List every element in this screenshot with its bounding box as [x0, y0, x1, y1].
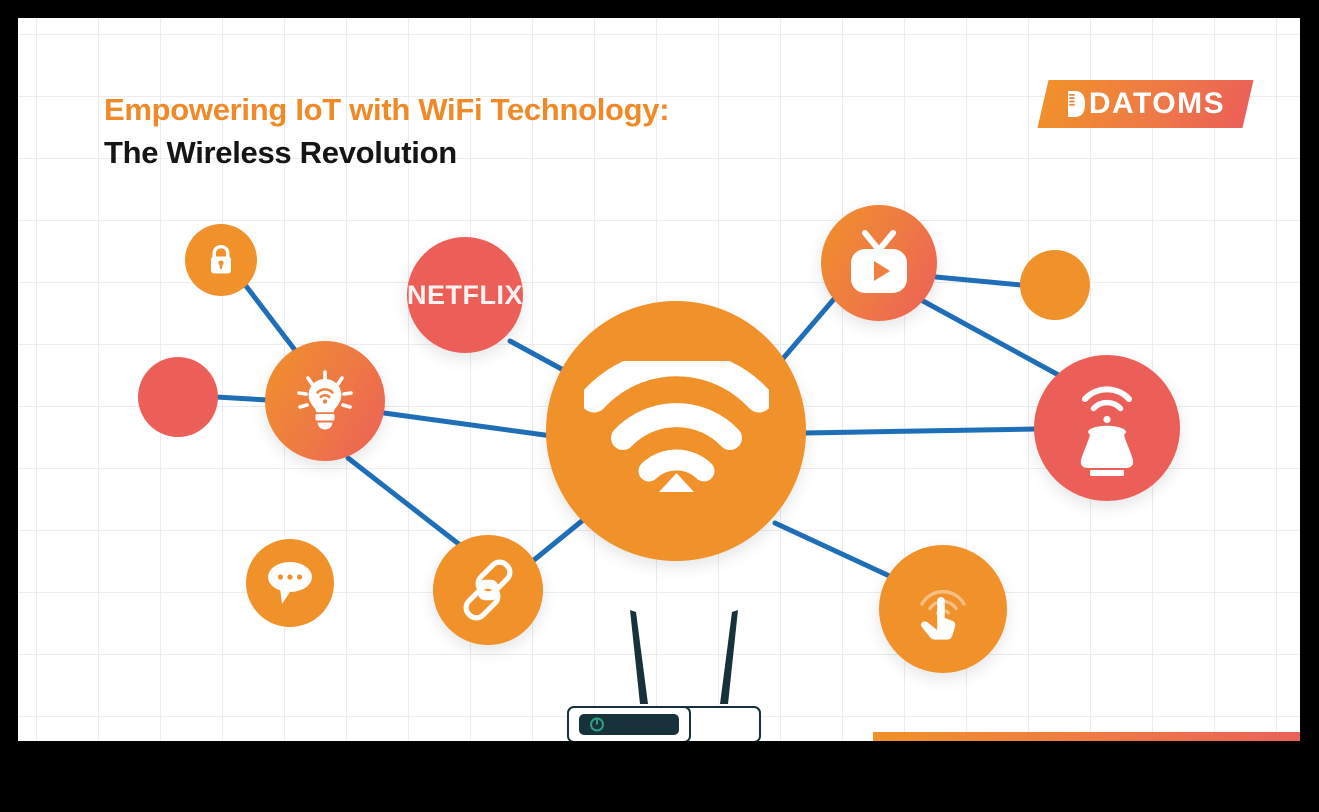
node-security-lock[interactable] — [185, 224, 257, 296]
edge-link-hub — [534, 516, 588, 560]
netflix-wordmark: NETFLIX — [407, 280, 523, 311]
edge-tv-plainorange — [936, 277, 1021, 285]
node-smart-tv[interactable] — [821, 205, 937, 321]
tv-play-icon — [845, 230, 913, 296]
iot-network-diagram: NETFLIX — [18, 18, 1300, 741]
bottom-accent-bar — [873, 732, 1300, 741]
edge-lock-bulb — [246, 286, 298, 354]
edge-plainred-bulb — [216, 397, 268, 400]
node-smart-speaker[interactable] — [1034, 355, 1180, 501]
slide-frame: Empowering IoT with WiFi Technology: The… — [0, 0, 1319, 812]
edge-hub-tv — [780, 299, 834, 362]
node-plain-orange-right[interactable] — [1020, 250, 1090, 320]
node-touch-control[interactable] — [879, 545, 1007, 673]
node-chat-bubble[interactable] — [246, 539, 334, 627]
slide-canvas: Empowering IoT with WiFi Technology: The… — [18, 18, 1300, 741]
chain-link-icon — [455, 557, 521, 623]
node-plain-red-left[interactable] — [138, 357, 218, 437]
edge-hub-speaker — [805, 429, 1036, 433]
smart-bulb-icon — [290, 366, 360, 436]
node-netflix[interactable]: NETFLIX — [407, 237, 523, 353]
router-antenna-right — [720, 610, 738, 704]
edge-bulb-hub — [384, 413, 552, 436]
edge-hub-touch — [775, 523, 898, 580]
edge-bulb-link — [348, 458, 460, 545]
router-antenna-left — [630, 610, 648, 704]
node-smart-bulb[interactable] — [265, 341, 385, 461]
router-display-panel — [579, 714, 679, 735]
lock-icon — [205, 242, 237, 278]
tap-gesture-icon — [906, 572, 980, 646]
chat-bubble-icon — [264, 558, 316, 608]
smart-speaker-icon — [1066, 380, 1148, 476]
node-chain-link[interactable] — [433, 535, 543, 645]
wifi-router[interactable] — [558, 604, 772, 741]
wifi-icon — [584, 361, 769, 501]
node-wifi-hub[interactable] — [546, 301, 806, 561]
